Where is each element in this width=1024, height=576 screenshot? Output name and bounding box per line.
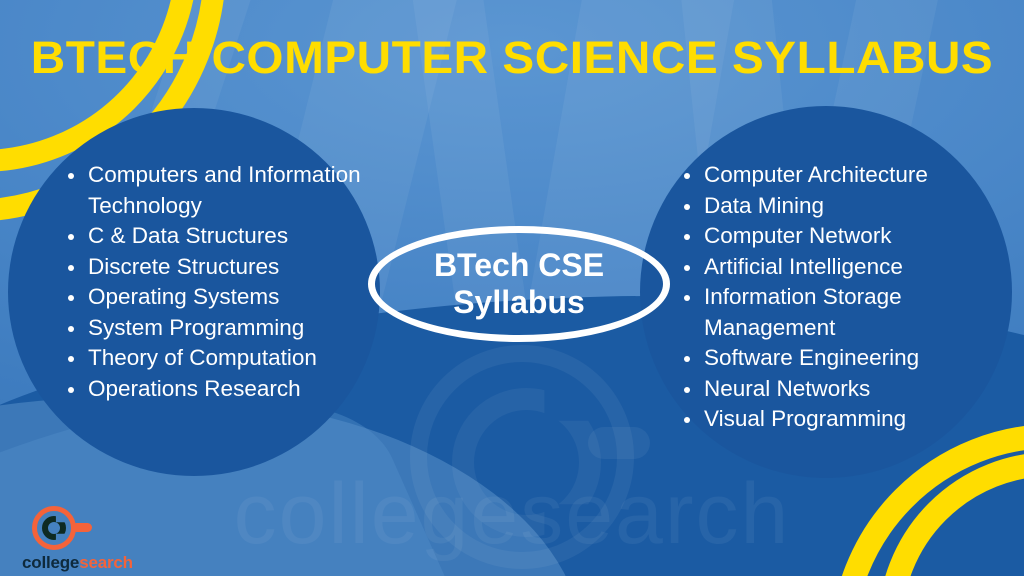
magnifier-handle-icon (72, 523, 92, 532)
center-badge: BTech CSE Syllabus (368, 226, 670, 342)
list-item: Discrete Structures (62, 252, 380, 283)
list-item: Theory of Computation (62, 343, 380, 374)
center-badge-line1: BTech CSE (434, 247, 604, 284)
list-item: Computers and Information Technology (62, 160, 380, 221)
collegesearch-logo: collegesearch (22, 506, 172, 570)
poster-canvas: collegesearch BTECH COMPUTER SCIENCE SYL… (0, 0, 1024, 576)
page-title: BTECH COMPUTER SCIENCE SYLLABUS (0, 32, 1024, 84)
left-subject-list: Computers and Information Technology C &… (62, 160, 380, 404)
list-item: Neural Networks (678, 374, 998, 405)
logo-wordmark: collegesearch (22, 553, 133, 573)
list-item: Artificial Intelligence (678, 252, 998, 283)
list-item: C & Data Structures (62, 221, 380, 252)
logo-word-college: college (22, 553, 79, 572)
list-item: Operating Systems (62, 282, 380, 313)
list-item: Computer Network (678, 221, 998, 252)
list-item: Visual Programming (678, 404, 998, 435)
list-item: Information Storage Management (678, 282, 998, 343)
logo-word-search: search (79, 553, 133, 572)
list-item: Software Engineering (678, 343, 998, 374)
center-badge-line2: Syllabus (453, 284, 585, 321)
list-item: Operations Research (62, 374, 380, 405)
list-item: System Programming (62, 313, 380, 344)
list-item: Data Mining (678, 191, 998, 222)
list-item: Computer Architecture (678, 160, 998, 191)
right-subject-list: Computer Architecture Data Mining Comput… (678, 160, 998, 435)
